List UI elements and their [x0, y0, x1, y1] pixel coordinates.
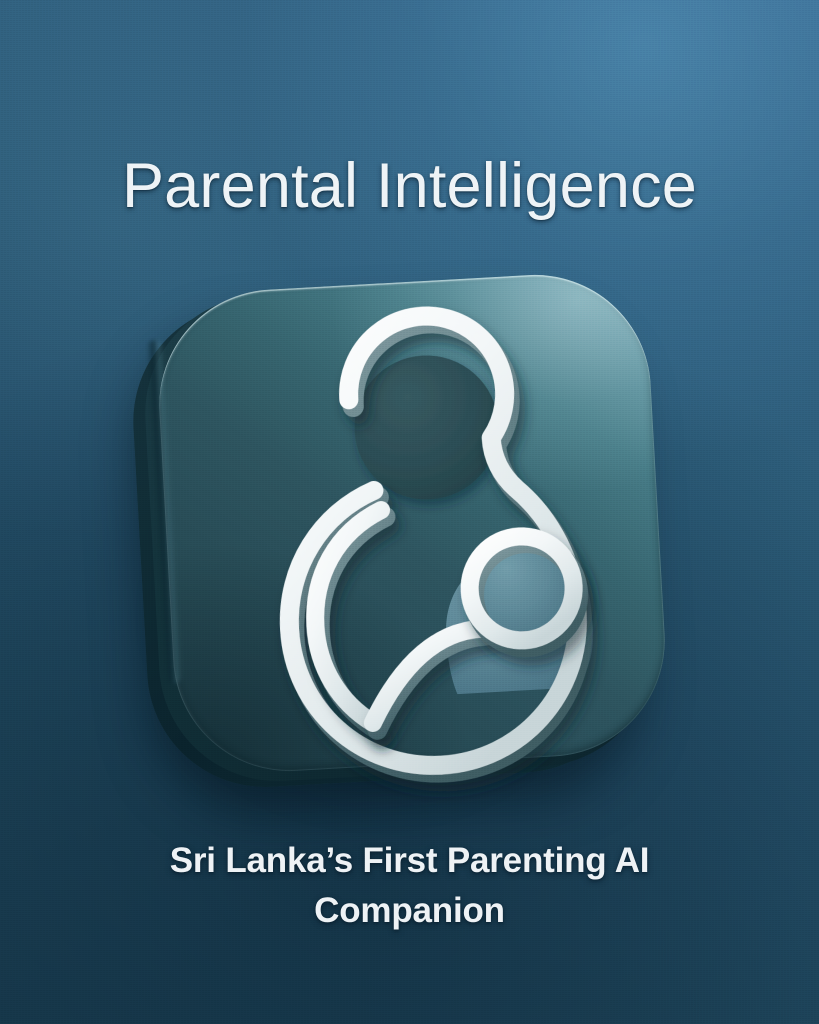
subtitle-line-1: Sri Lanka’s First Parenting AI — [170, 841, 650, 880]
parent-head-disc — [351, 352, 503, 504]
subtitle-line-2: Companion — [314, 891, 505, 930]
app-icon-tile[interactable] — [152, 282, 662, 782]
page-subtitle: Sri Lanka’s First Parenting AI Companion — [60, 836, 759, 935]
parent-and-child-icon — [279, 321, 630, 729]
page-title: Parental Intelligence — [0, 150, 819, 222]
poster-canvas: Parental Intelligence — [0, 0, 819, 1024]
child-head-circle — [467, 533, 581, 650]
